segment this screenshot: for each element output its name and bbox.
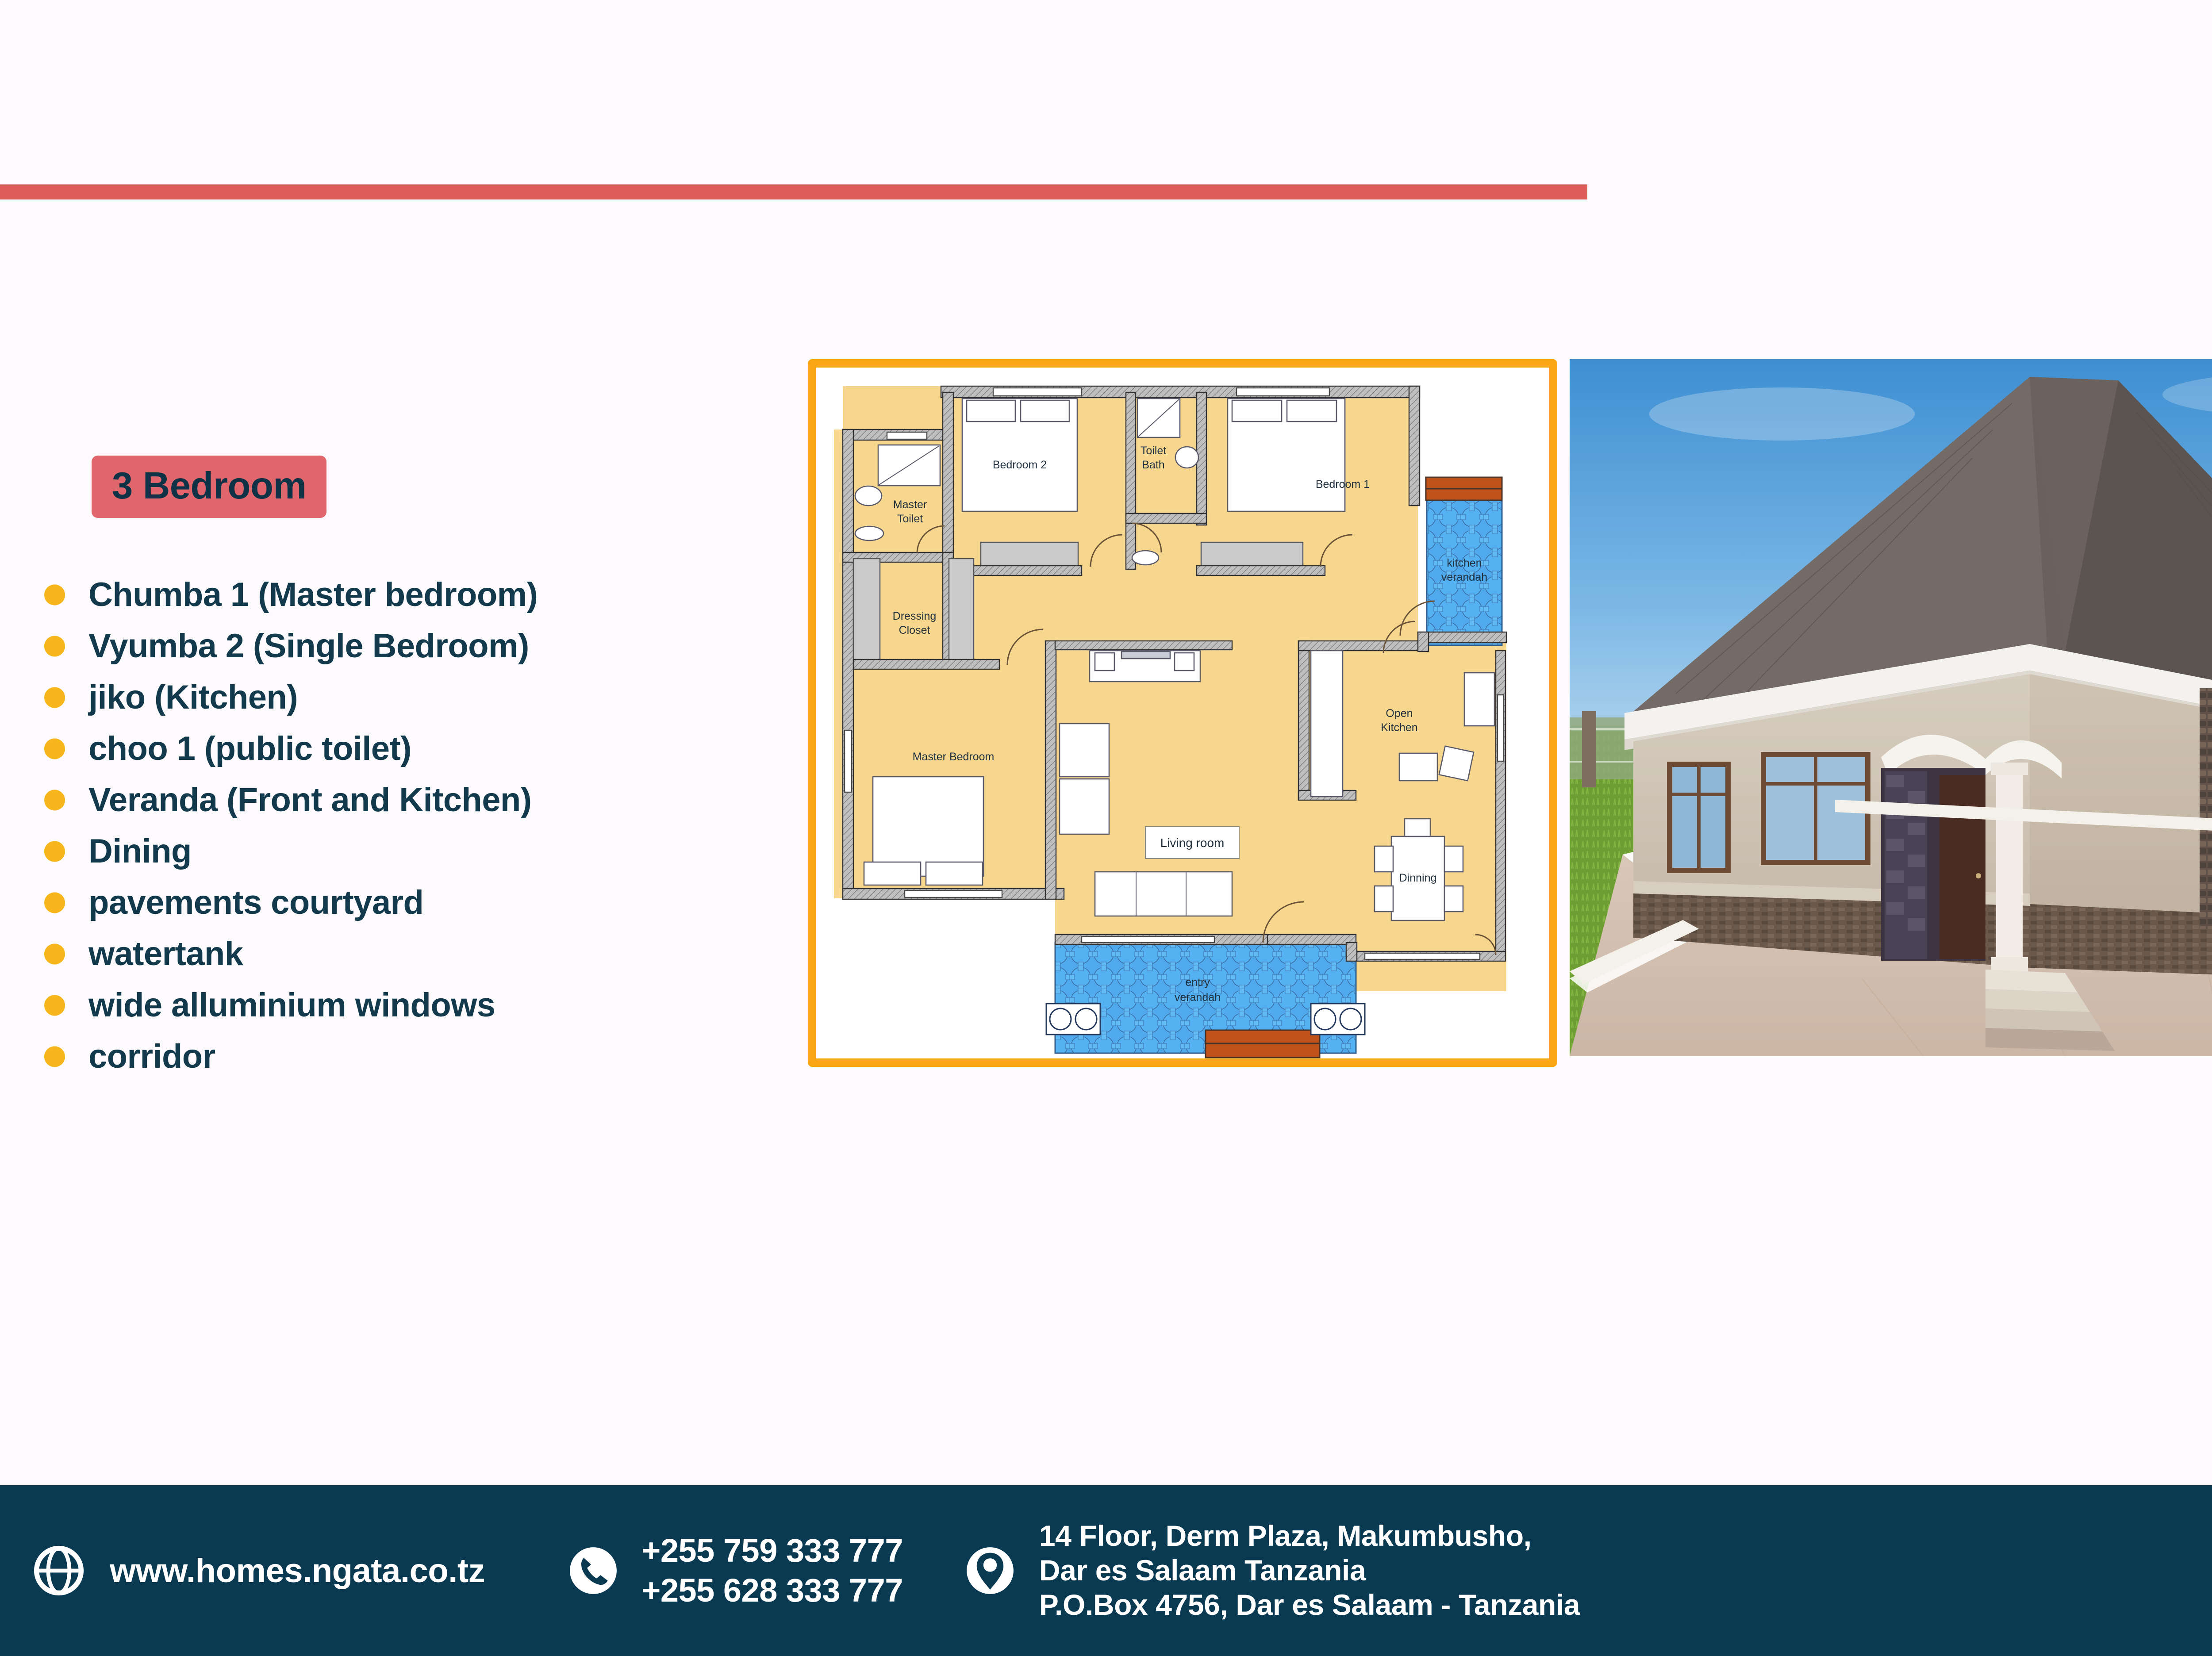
room-label-living-room: Living room bbox=[1160, 836, 1225, 850]
list-item: Chumba 1 (Master bedroom) bbox=[0, 571, 779, 619]
list-item: choo 1 (public toilet) bbox=[0, 725, 779, 773]
contact-footer: www.homes.ngata.co.tz +255 759 333 777 +… bbox=[0, 1485, 2212, 1656]
address-line-2: Dar es Salaam Tanzania bbox=[1039, 1553, 1580, 1588]
room-label-entry-verandah-2: verandah bbox=[1175, 991, 1221, 1004]
list-item: pavements courtyard bbox=[0, 879, 779, 927]
list-item: corridor bbox=[0, 1033, 779, 1081]
footer-address[interactable]: 14 Floor, Derm Plaza, Makumbusho, Dar es… bbox=[962, 1519, 1580, 1622]
room-label-bedroom2: Bedroom 2 bbox=[993, 459, 1047, 471]
bullet-dot-icon bbox=[44, 841, 65, 862]
room-label-dinning: Dinning bbox=[1399, 872, 1437, 884]
feature-label: watertank bbox=[88, 936, 243, 971]
room-label-kitchen-verandah-1: kitchen bbox=[1447, 557, 1482, 569]
bullet-dot-icon bbox=[44, 687, 65, 708]
footer-website[interactable]: www.homes.ngata.co.tz bbox=[31, 1543, 485, 1598]
bullet-dot-icon bbox=[44, 636, 65, 657]
features-panel: 3 Bedroom Chumba 1 (Master bedroom) Vyum… bbox=[0, 456, 779, 1084]
bullet-dot-icon bbox=[44, 790, 65, 811]
room-label-open-kitchen-1: Open bbox=[1386, 707, 1413, 720]
feature-label: pavements courtyard bbox=[88, 885, 423, 920]
room-label-master-toilet-2: Toilet bbox=[897, 513, 923, 525]
room-label-toilet-bath-1: Toilet bbox=[1141, 445, 1166, 457]
phone-number-2: +255 628 333 777 bbox=[641, 1571, 903, 1610]
brick-quoin-center bbox=[2200, 688, 2212, 929]
list-item: wide alluminium windows bbox=[0, 981, 779, 1029]
feature-label: wide alluminium windows bbox=[88, 988, 495, 1023]
room-label-bedroom1: Bedroom 1 bbox=[1316, 478, 1370, 491]
phone-number-1: +255 759 333 777 bbox=[641, 1531, 903, 1571]
bullet-dot-icon bbox=[44, 739, 65, 759]
globe-icon bbox=[31, 1543, 87, 1598]
website-url: www.homes.ngata.co.tz bbox=[110, 1552, 485, 1590]
address-line-3: P.O.Box 4756, Dar es Salaam - Tanzania bbox=[1039, 1588, 1580, 1622]
window-group-left bbox=[1667, 752, 1870, 873]
floor-plan-drawing: Bedroom 2 Toilet Bath Bedroom 1 Master T… bbox=[816, 368, 1549, 1058]
location-pin-icon bbox=[962, 1543, 1018, 1598]
room-label-entry-verandah-1: entry bbox=[1185, 976, 1210, 989]
list-item: Veranda (Front and Kitchen) bbox=[0, 776, 779, 824]
list-item: watertank bbox=[0, 930, 779, 978]
list-item: jiko (Kitchen) bbox=[0, 674, 779, 721]
room-label-open-kitchen-2: Kitchen bbox=[1381, 721, 1417, 734]
footer-phone[interactable]: +255 759 333 777 +255 628 333 777 bbox=[565, 1531, 903, 1611]
house-render-drawing bbox=[1570, 359, 2212, 1056]
bullet-dot-icon bbox=[44, 585, 65, 606]
feature-label: Veranda (Front and Kitchen) bbox=[88, 782, 531, 817]
house-render-image bbox=[1570, 359, 2212, 1056]
plan-type-label: 3 Bedroom bbox=[112, 467, 306, 505]
room-label-toilet-bath-2: Bath bbox=[1142, 459, 1164, 471]
list-item: Vyumba 2 (Single Bedroom) bbox=[0, 622, 779, 670]
room-label-living-room-box: Living room bbox=[1145, 827, 1239, 859]
bullet-dot-icon bbox=[44, 944, 65, 965]
feature-label: choo 1 (public toilet) bbox=[88, 731, 411, 766]
room-label-kitchen-verandah-2: verandah bbox=[1441, 571, 1487, 583]
room-label-dressing-2: Closet bbox=[899, 624, 930, 636]
feature-label: Chumba 1 (Master bedroom) bbox=[88, 577, 538, 612]
phone-icon bbox=[565, 1543, 621, 1598]
feature-label: jiko (Kitchen) bbox=[88, 680, 298, 715]
room-label-master-bedroom: Master Bedroom bbox=[913, 751, 995, 763]
porch-column bbox=[1996, 768, 2023, 959]
bullet-dot-icon bbox=[44, 995, 65, 1016]
plan-type-badge: 3 Bedroom bbox=[92, 456, 326, 518]
feature-label: Vyumba 2 (Single Bedroom) bbox=[88, 629, 529, 663]
room-label-master-toilet-1: Master bbox=[893, 498, 927, 511]
room-label-dressing-1: Dressing bbox=[893, 610, 937, 622]
address-line-1: 14 Floor, Derm Plaza, Makumbusho, bbox=[1039, 1519, 1580, 1553]
feature-label: corridor bbox=[88, 1039, 215, 1074]
entry-door bbox=[1939, 775, 1985, 959]
feature-label: Dining bbox=[88, 834, 192, 869]
list-item: Dining bbox=[0, 828, 779, 875]
top-accent-bar bbox=[0, 184, 1587, 199]
feature-list: Chumba 1 (Master bedroom) Vyumba 2 (Sing… bbox=[0, 571, 779, 1081]
bullet-dot-icon bbox=[44, 1046, 65, 1067]
floor-plan-card: Bedroom 2 Toilet Bath Bedroom 1 Master T… bbox=[808, 359, 1557, 1067]
bullet-dot-icon bbox=[44, 893, 65, 913]
